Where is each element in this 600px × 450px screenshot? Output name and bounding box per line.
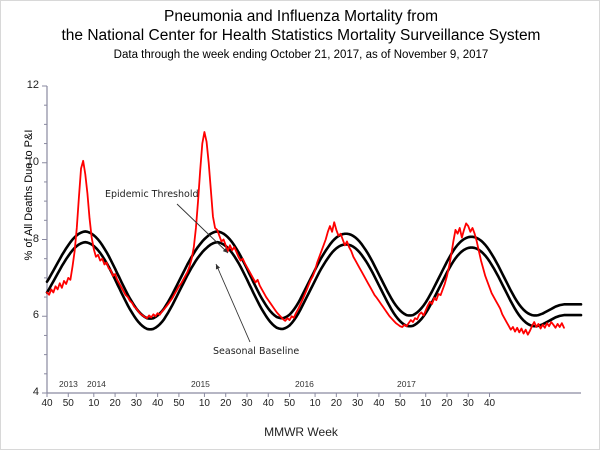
x-tick-label: 40 — [477, 398, 503, 409]
series-line-2 — [47, 132, 564, 335]
series-line-1 — [47, 242, 581, 329]
y-tick-label: 12 — [13, 79, 39, 91]
y-tick-label: 4 — [13, 386, 39, 398]
plot-area: % of All Deaths Due to P&I MMWR Week Epi… — [1, 1, 600, 450]
x-tick-label: 50 — [387, 398, 413, 409]
year-label: 2013 — [59, 379, 78, 389]
y-tick-label: 6 — [13, 309, 39, 321]
x-tick-label: 50 — [277, 398, 303, 409]
leader-epidemic-threshold — [177, 204, 228, 253]
y-tick-label: 10 — [13, 156, 39, 168]
year-label: 2014 — [87, 379, 106, 389]
year-label: 2017 — [397, 379, 416, 389]
chart-screenshot: Pneumonia and Influenza Mortality from t… — [0, 0, 600, 450]
x-axis-title: MMWR Week — [1, 425, 600, 439]
year-label: 2016 — [295, 379, 314, 389]
y-tick-label: 8 — [13, 233, 39, 245]
annotation-epidemic-threshold: Epidemic Threshold — [105, 189, 199, 200]
x-tick-label: 50 — [166, 398, 192, 409]
year-label: 2015 — [191, 379, 210, 389]
annotation-seasonal-baseline: Seasonal Baseline — [213, 346, 299, 357]
x-tick-label: 50 — [55, 398, 81, 409]
y-axis-title: % of All Deaths Due to P&I — [23, 115, 35, 275]
